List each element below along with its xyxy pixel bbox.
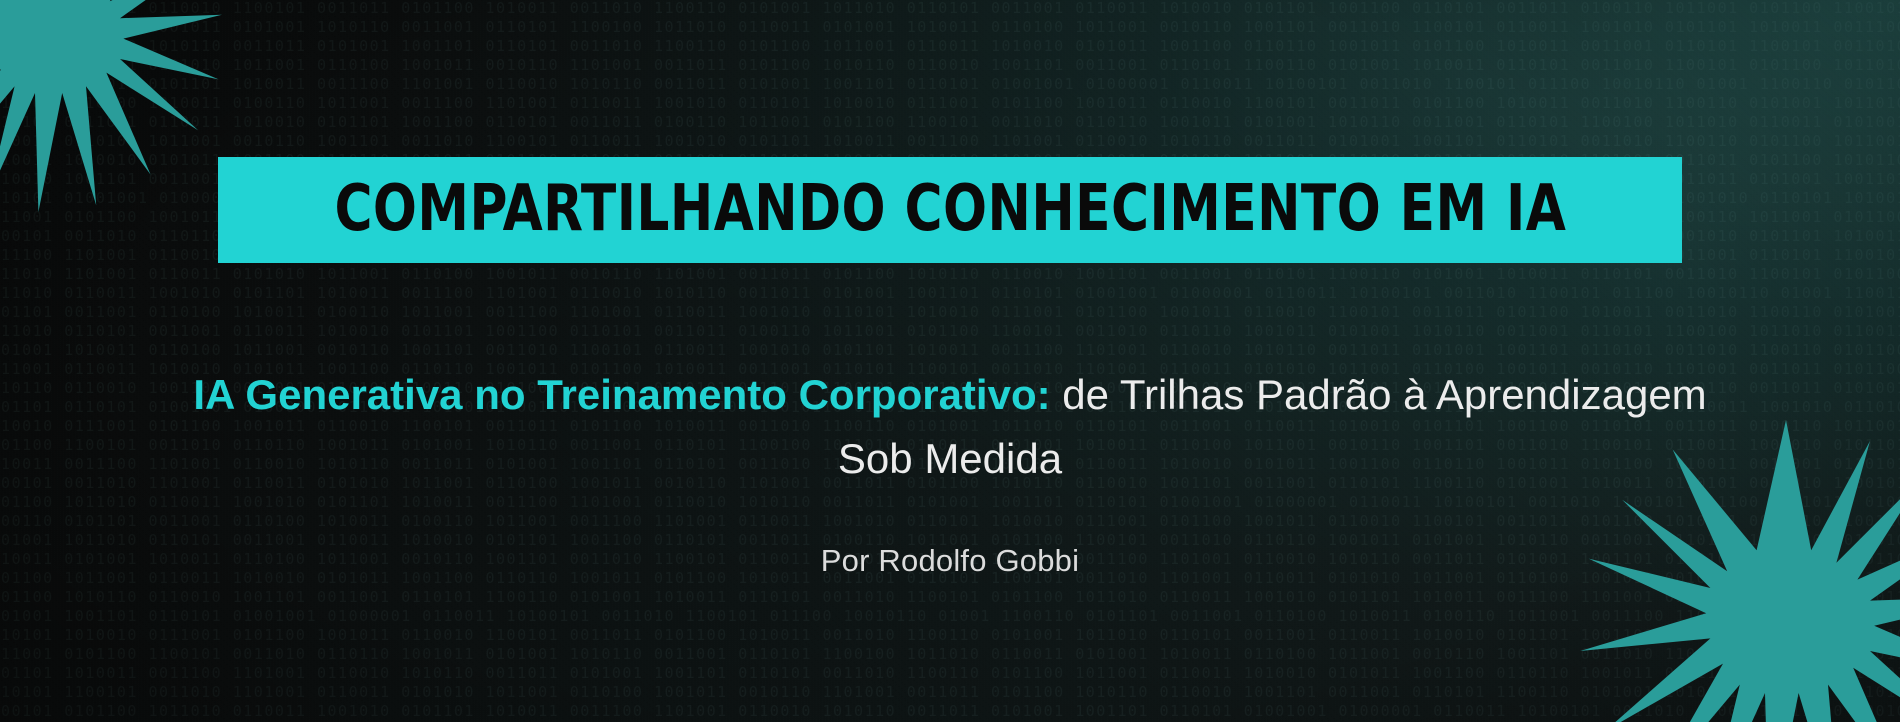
- headline-banner: COMPARTILHANDO CONHECIMENTO EM IA: [218, 157, 1682, 263]
- slide-background-gradient-overlay: [0, 0, 1900, 722]
- subtitle-accent: IA Generativa no Treinamento Corporativo…: [193, 371, 1050, 418]
- presentation-slide: 01001001 01000001 0110011 10100101 00110…: [0, 0, 1900, 722]
- author-byline: Por Rodolfo Gobbi: [0, 543, 1900, 579]
- subtitle: IA Generativa no Treinamento Corporativo…: [0, 363, 1900, 491]
- headline-title: COMPARTILHANDO CONHECIMENTO EM IA: [334, 177, 1566, 243]
